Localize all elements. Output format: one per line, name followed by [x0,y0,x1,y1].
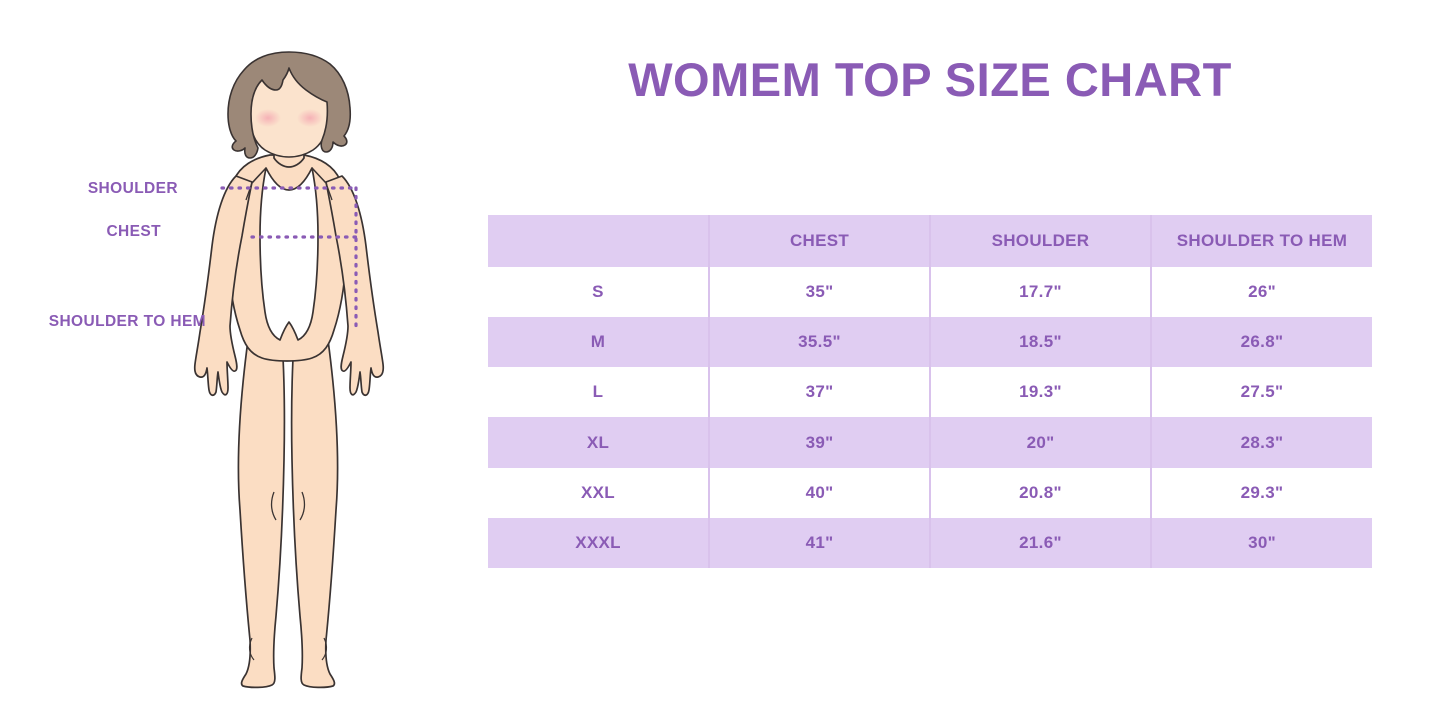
cell-chest: 41" [709,518,930,568]
cell-shoulder: 17.7" [930,267,1151,317]
cell-chest: 40" [709,468,930,518]
body-figure-illustration [170,40,440,690]
cell-shoulder: 19.3" [930,367,1151,417]
cell-shoulder: 20" [930,417,1151,467]
cell-chest: 35.5" [709,317,930,367]
cell-chest: 37" [709,367,930,417]
cell-shoulder-to-hem: 30" [1151,518,1372,568]
column-header-shoulder-to-hem: SHOULDER TO HEM [1151,215,1372,267]
column-header-shoulder: SHOULDER [930,215,1151,267]
cell-size: XL [488,417,709,467]
cell-size: L [488,367,709,417]
size-chart-table-container: CHEST SHOULDER SHOULDER TO HEM S 35" 17.… [488,215,1372,568]
table-row: S 35" 17.7" 26" [488,267,1372,317]
cell-size: XXL [488,468,709,518]
column-header-size [488,215,709,267]
body-figure-svg [170,40,440,690]
cell-size: XXXL [488,518,709,568]
cell-shoulder-to-hem: 29.3" [1151,468,1372,518]
measure-label-shoulder-to-hem: SHOULDER TO HEM [0,313,206,331]
cell-size: S [488,267,709,317]
cell-shoulder-to-hem: 26" [1151,267,1372,317]
measure-label-chest: CHEST [0,223,161,241]
cell-shoulder: 20.8" [930,468,1151,518]
table-row: XXXL 41" 21.6" 30" [488,518,1372,568]
cell-shoulder-to-hem: 27.5" [1151,367,1372,417]
table-row: L 37" 19.3" 27.5" [488,367,1372,417]
page-title: WOMEM TOP SIZE CHART [470,52,1390,107]
cell-shoulder-to-hem: 28.3" [1151,417,1372,467]
measure-label-shoulder: SHOULDER [0,180,178,198]
cell-chest: 35" [709,267,930,317]
cell-shoulder-to-hem: 26.8" [1151,317,1372,367]
head [228,52,350,158]
cell-shoulder: 21.6" [930,518,1151,568]
table-header-row: CHEST SHOULDER SHOULDER TO HEM [488,215,1372,267]
cell-size: M [488,317,709,367]
table-row: XXL 40" 20.8" 29.3" [488,468,1372,518]
table-head: CHEST SHOULDER SHOULDER TO HEM [488,215,1372,267]
size-chart-table: CHEST SHOULDER SHOULDER TO HEM S 35" 17.… [488,215,1372,568]
table-row: M 35.5" 18.5" 26.8" [488,317,1372,367]
table-body: S 35" 17.7" 26" M 35.5" 18.5" 26.8" L 37… [488,267,1372,568]
cell-chest: 39" [709,417,930,467]
table-row: XL 39" 20" 28.3" [488,417,1372,467]
legs-group [238,340,337,687]
column-header-chest: CHEST [709,215,930,267]
cell-shoulder: 18.5" [930,317,1151,367]
